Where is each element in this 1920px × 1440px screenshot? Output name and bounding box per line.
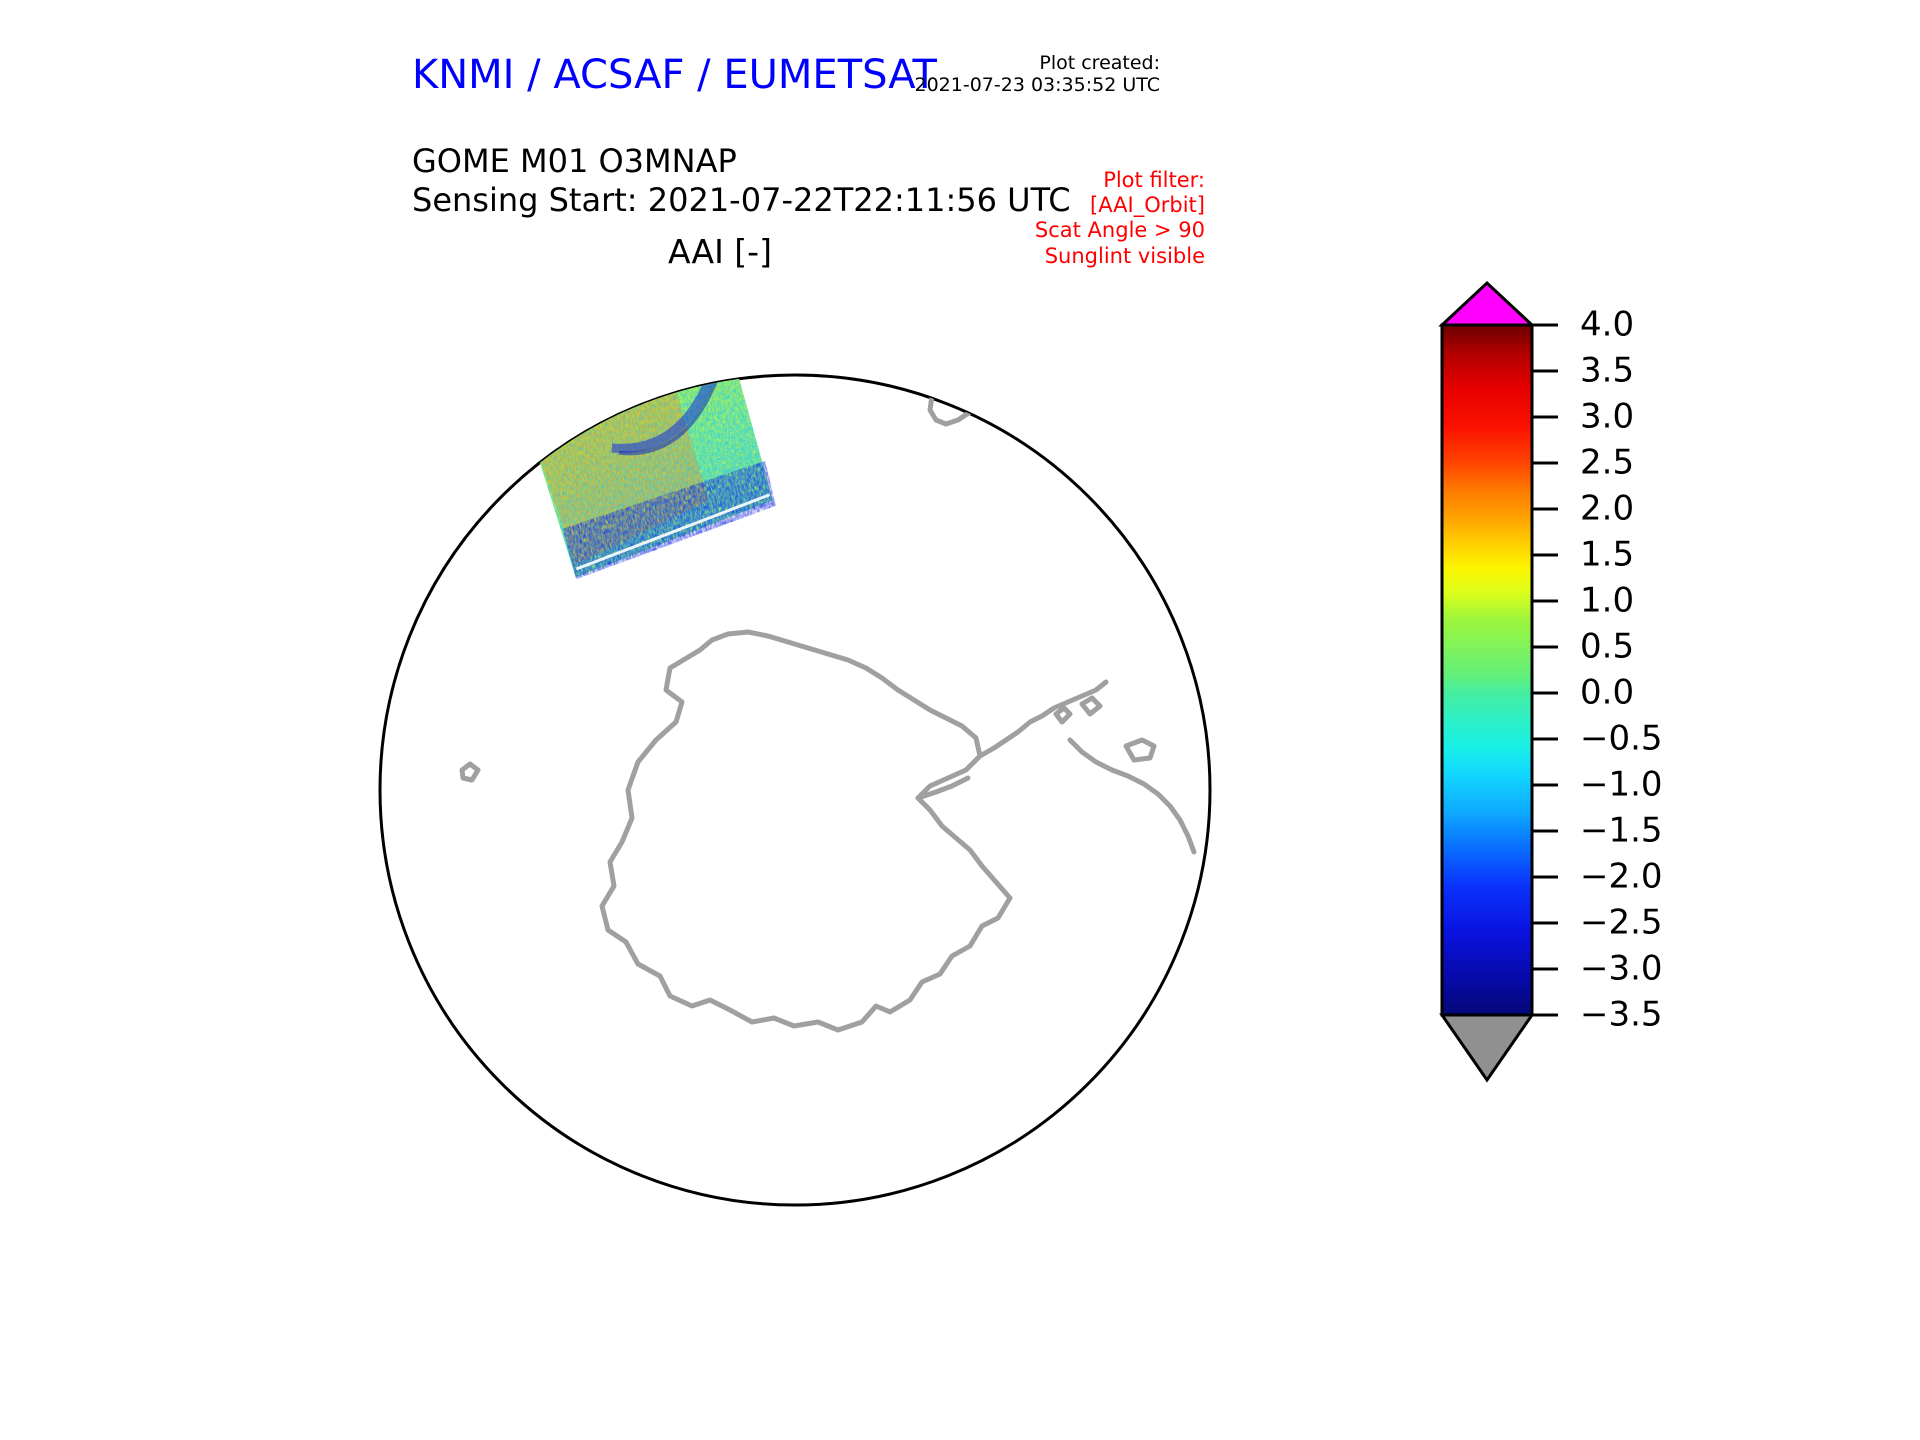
colorbar-ticks: 4.03.53.02.52.01.51.00.50.0−0.5−1.0−1.5−… bbox=[1532, 305, 1663, 1035]
colorbar-under-arrow bbox=[1442, 1015, 1532, 1080]
colorbar-tick-label: −0.5 bbox=[1580, 719, 1663, 759]
colorbar-tick-label: −1.5 bbox=[1580, 811, 1663, 851]
plot-filter-line-0: [AAI_Orbit] bbox=[1035, 193, 1205, 218]
colorbar-tick-label: −3.0 bbox=[1580, 949, 1663, 989]
colorbar-tick-label: 4.0 bbox=[1580, 305, 1634, 345]
map-panel bbox=[370, 270, 1390, 1310]
coastline-tierra-del-fuego bbox=[968, 314, 1000, 344]
colorbar-tick-label: 2.5 bbox=[1580, 443, 1634, 483]
colorbar-tick-label: 0.0 bbox=[1580, 673, 1634, 713]
colorbar-tick-label: −3.5 bbox=[1580, 995, 1663, 1035]
colorbar-tick-label: 1.5 bbox=[1580, 535, 1634, 575]
colorbar-tick-label: 1.0 bbox=[1580, 581, 1634, 621]
colorbar-tick-label: 3.5 bbox=[1580, 351, 1634, 391]
product-name: GOME M01 O3MNAP bbox=[412, 142, 1071, 181]
product-title-block: GOME M01 O3MNAP Sensing Start: 2021-07-2… bbox=[412, 142, 1071, 220]
map-boundary-circle bbox=[380, 375, 1210, 1205]
plot-created-timestamp: 2021-07-23 03:35:52 UTC bbox=[915, 74, 1161, 96]
variable-label: AAI [-] bbox=[0, 232, 1440, 271]
plot-filter-title: Plot filter: bbox=[1035, 168, 1205, 193]
colorbar-tick-label: 0.5 bbox=[1580, 627, 1634, 667]
colorbar-tick-label: −2.0 bbox=[1580, 857, 1663, 897]
colorbar-tick-label: −2.5 bbox=[1580, 903, 1663, 943]
header-institutions: KNMI / ACSAF / EUMETSAT bbox=[412, 52, 937, 98]
colorbar-gradient bbox=[1442, 325, 1532, 1015]
sensing-start: Sensing Start: 2021-07-22T22:11:56 UTC bbox=[412, 181, 1071, 220]
colorbar-panel: 4.03.53.02.52.01.51.00.50.0−0.5−1.0−1.5−… bbox=[1430, 280, 1850, 1090]
colorbar-tick-label: 3.0 bbox=[1580, 397, 1634, 437]
plot-created-block: Plot created: 2021-07-23 03:35:52 UTC bbox=[915, 52, 1161, 97]
colorbar-tick-label: 2.0 bbox=[1580, 489, 1634, 529]
colorbar-over-arrow bbox=[1442, 283, 1532, 325]
plot-created-label: Plot created: bbox=[915, 52, 1161, 74]
colorbar-tick-label: −1.0 bbox=[1580, 765, 1663, 805]
